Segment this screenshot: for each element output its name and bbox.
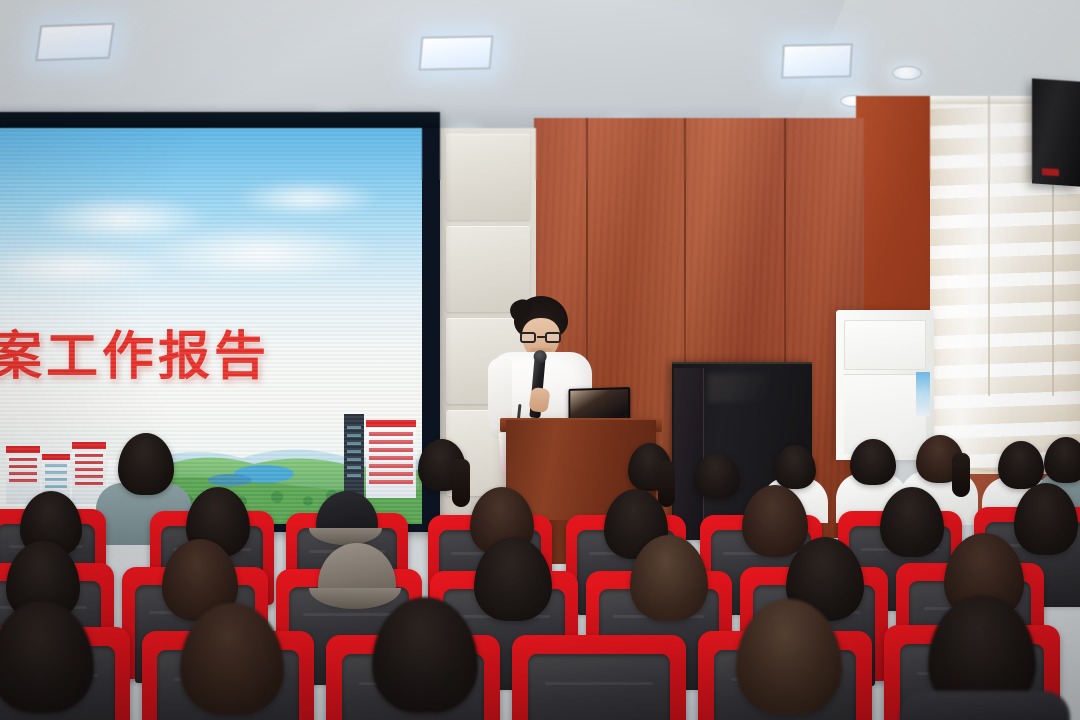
audience-member-foreground — [900, 691, 1070, 720]
audience-head — [998, 441, 1044, 489]
ceiling-downlight-icon — [892, 66, 922, 80]
glasses-icon — [520, 332, 562, 343]
ceiling-panel-light-center — [418, 35, 493, 70]
speaker-brand-badge — [1042, 168, 1059, 176]
microphone-head — [533, 350, 547, 364]
audience-ponytail — [952, 453, 970, 497]
audience-cap — [316, 491, 378, 541]
auditorium-seat[interactable] — [512, 635, 686, 720]
audience-head — [774, 445, 816, 489]
screen-bezel — [0, 112, 440, 128]
audience-head — [118, 433, 174, 495]
audience-head — [694, 453, 740, 499]
audience-head — [850, 439, 896, 485]
audience-ponytail — [658, 461, 675, 507]
blind-cord[interactable] — [988, 96, 990, 396]
slide-cloud — [232, 180, 382, 214]
ceiling-panel-light-left — [35, 23, 114, 62]
glasses-lens-left — [520, 332, 536, 343]
glasses-lens-right — [545, 332, 561, 343]
wall-mounted-speaker — [1032, 78, 1080, 186]
audience-head — [1044, 437, 1080, 483]
slide-cloud — [142, 224, 382, 278]
conference-hall-photo: 提案工作报告 — [0, 0, 1080, 720]
audience-ponytail — [452, 459, 470, 507]
audience-head — [630, 535, 708, 621]
audience-area — [0, 415, 1080, 720]
acoustic-panel — [446, 134, 530, 220]
ac-energy-label — [916, 372, 930, 416]
seat-cushion — [528, 654, 671, 720]
rack-highlight — [708, 374, 768, 402]
glasses-bridge — [537, 336, 545, 338]
slide-cloud — [0, 246, 172, 286]
ac-top-panel — [844, 320, 926, 370]
slide-title: 提案工作报告 — [0, 314, 270, 389]
ceiling-panel-light-right — [781, 43, 853, 78]
